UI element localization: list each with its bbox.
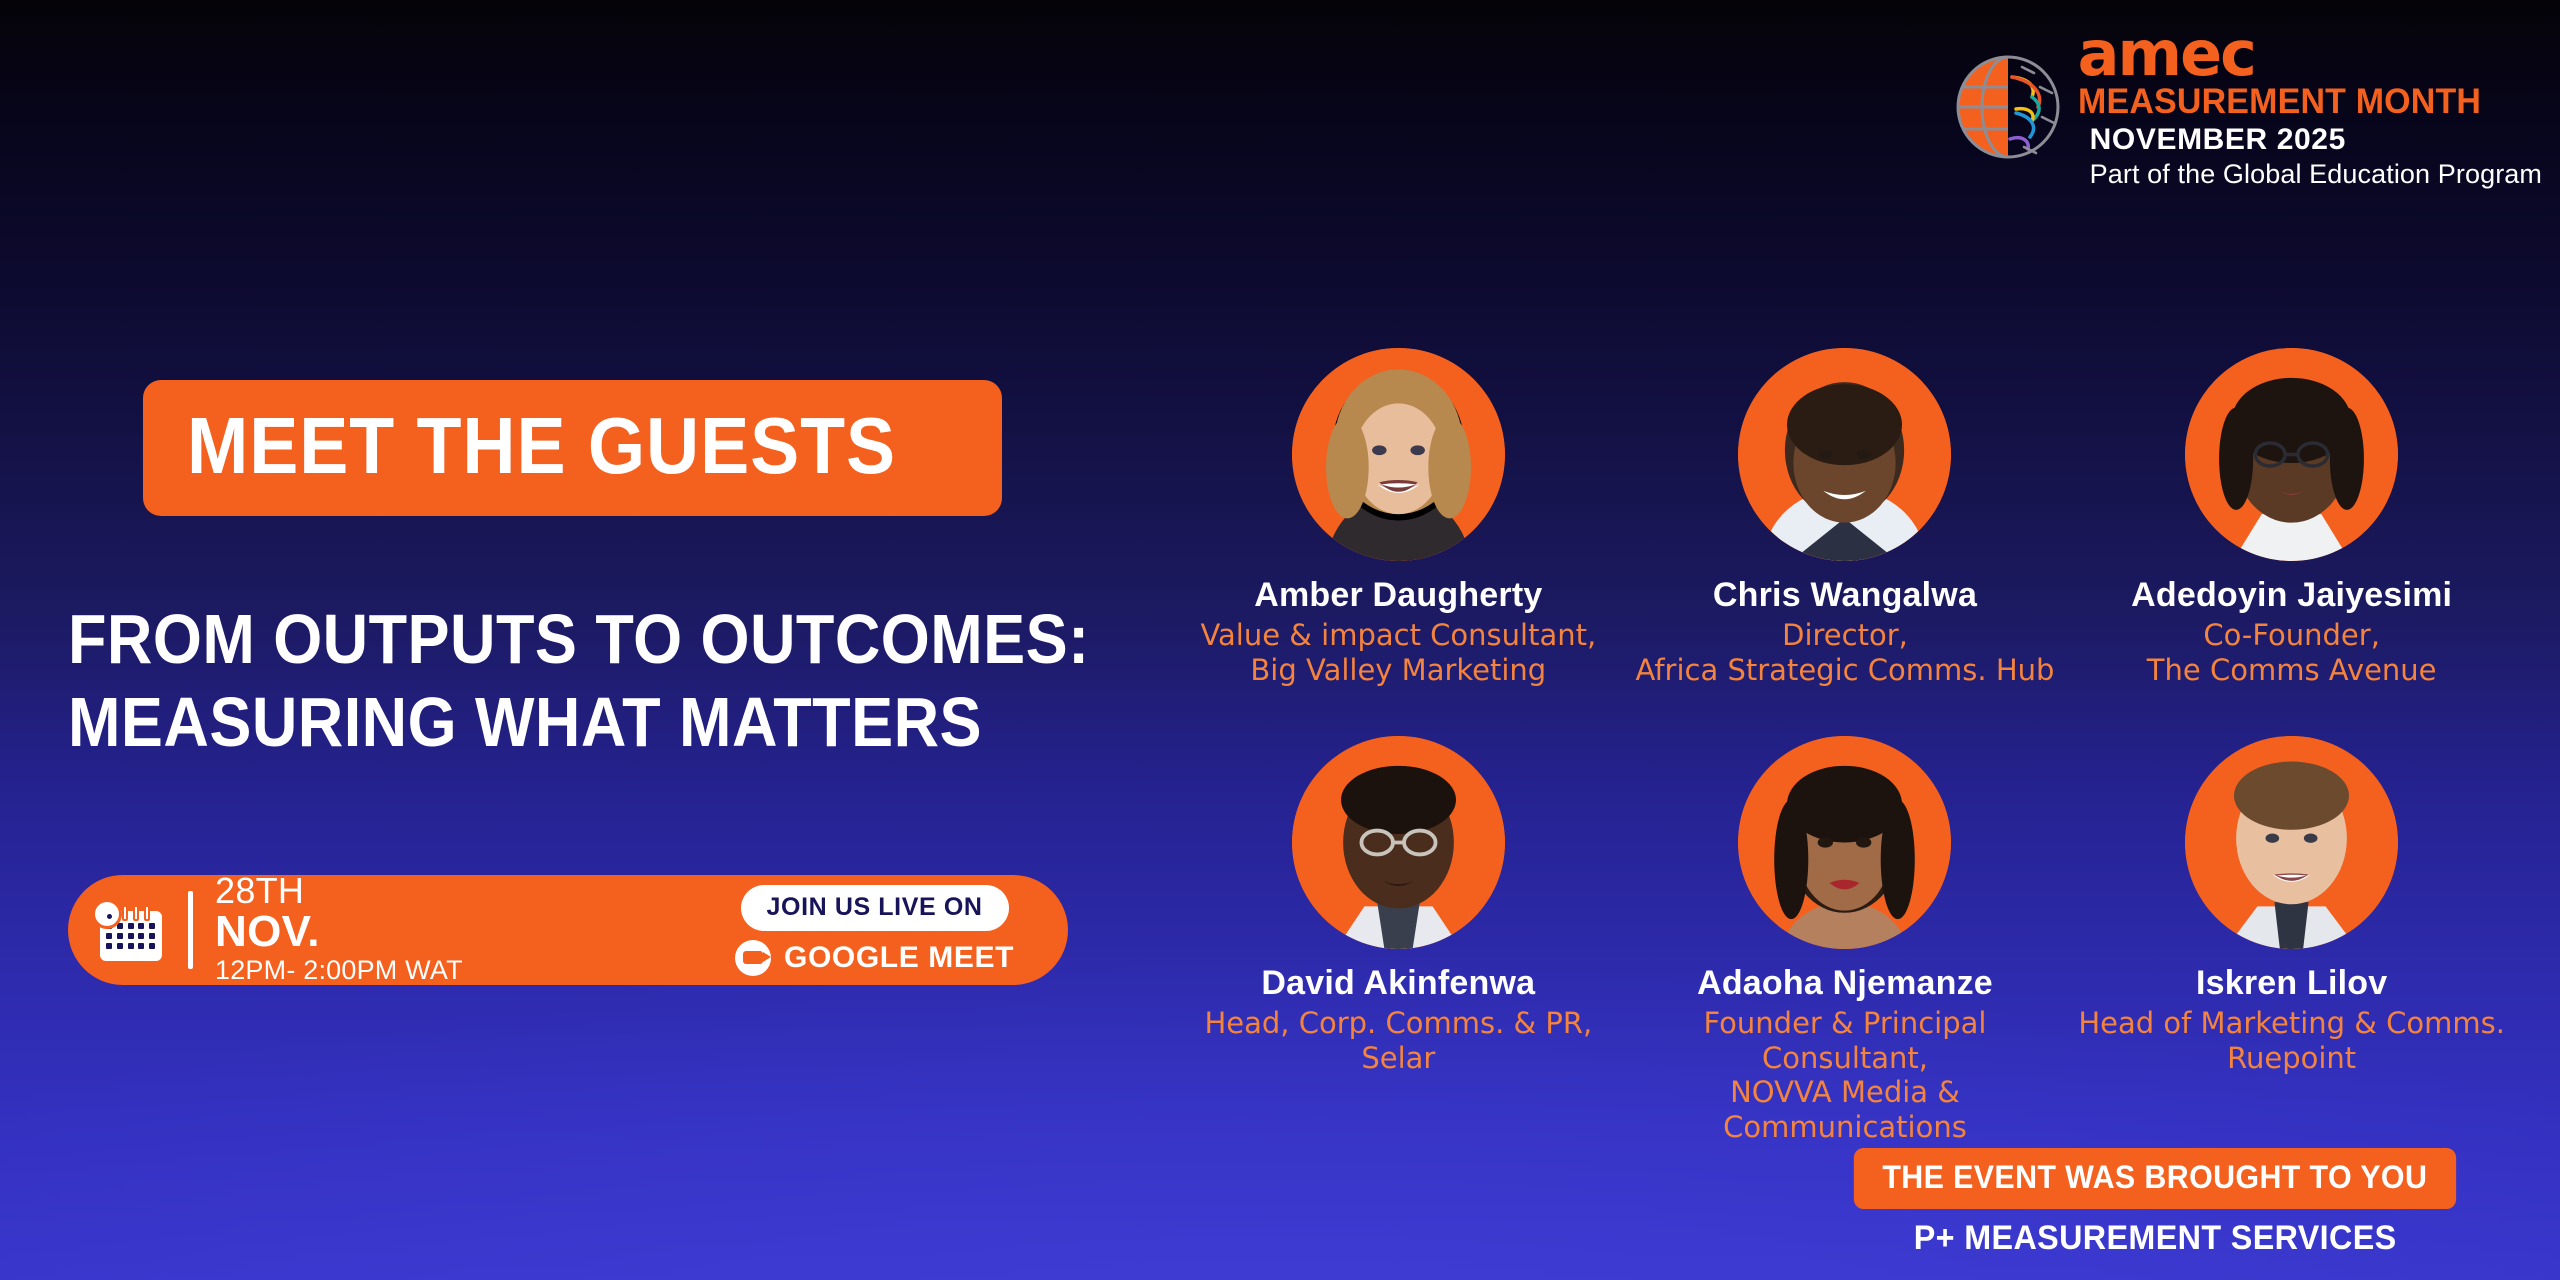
event-credit-badge: THE EVENT WAS BROUGHT TO YOU bbox=[1854, 1148, 2456, 1209]
event-poster: amec MEASUREMENT MONTH NOVEMBER 2025 Par… bbox=[0, 0, 2560, 1280]
speaker-role: Founder & Principal Consultant, NOVVA Me… bbox=[1622, 1006, 2069, 1145]
meet-the-guests-banner: MEET THE GUESTS bbox=[143, 380, 1002, 516]
globe-icon bbox=[1952, 51, 2064, 163]
speakers-grid: Amber Daugherty Value & impact Consultan… bbox=[1175, 348, 2515, 1145]
headline-line-1: FROM OUTPUTS TO OUTCOMES: bbox=[68, 598, 1090, 681]
event-month: NOV. bbox=[215, 910, 463, 955]
speaker-card: Amber Daugherty Value & impact Consultan… bbox=[1175, 348, 1622, 688]
page-title: FROM OUTPUTS TO OUTCOMES: MEASURING WHAT… bbox=[68, 598, 1090, 763]
event-date-block: 28TH NOV. 12PM- 2:00PM WAT bbox=[215, 872, 463, 988]
event-details-bar: 28TH NOV. 12PM- 2:00PM WAT JOIN US LIVE … bbox=[68, 875, 1068, 985]
avatar bbox=[2185, 348, 2398, 561]
calendar-icon-wrap bbox=[68, 899, 188, 961]
logo-month-year: NOVEMBER 2025 bbox=[2078, 121, 2542, 159]
logo-text-block: amec MEASUREMENT MONTH NOVEMBER 2025 Par… bbox=[2078, 22, 2542, 191]
speaker-name: Adedoyin Jaiyesimi bbox=[2131, 575, 2452, 615]
video-camera-icon bbox=[735, 940, 771, 976]
speaker-card: Chris Wangalwa Director, Africa Strategi… bbox=[1622, 348, 2069, 688]
speaker-name: Chris Wangalwa bbox=[1713, 575, 1977, 615]
amec-wordmark: amec bbox=[2078, 26, 2542, 82]
measurement-month-label: MEASUREMENT MONTH bbox=[2078, 82, 2528, 121]
speaker-name: Iskren Lilov bbox=[2196, 963, 2387, 1003]
sponsor-footer: THE EVENT WAS BROUGHT TO YOU P+ MEASUREM… bbox=[1838, 1148, 2472, 1258]
platform-label: GOOGLE MEET bbox=[784, 941, 1014, 975]
speaker-role: Head of Marketing & Comms. Ruepoint bbox=[2078, 1006, 2505, 1076]
vertical-divider bbox=[188, 891, 193, 969]
speaker-role: Director, Africa Strategic Comms. Hub bbox=[1636, 618, 2055, 688]
headline-line-2: MEASURING WHAT MATTERS bbox=[68, 681, 1090, 764]
speaker-card: Adaoha Njemanze Founder & Principal Cons… bbox=[1622, 736, 2069, 1145]
google-meet-row[interactable]: GOOGLE MEET bbox=[735, 940, 1014, 976]
speaker-name: Amber Daugherty bbox=[1254, 575, 1542, 615]
banner-label: MEET THE GUESTS bbox=[187, 406, 896, 486]
calendar-icon bbox=[92, 899, 164, 961]
speaker-name: Adaoha Njemanze bbox=[1697, 963, 1993, 1003]
speaker-card: Iskren Lilov Head of Marketing & Comms. … bbox=[2068, 736, 2515, 1145]
avatar bbox=[2185, 736, 2398, 949]
avatar bbox=[1738, 736, 1951, 949]
amec-logo: amec MEASUREMENT MONTH NOVEMBER 2025 Par… bbox=[1952, 22, 2542, 191]
logo-tagline: Part of the Global Education Program bbox=[2078, 158, 2542, 191]
speaker-card: David Akinfenwa Head, Corp. Comms. & PR,… bbox=[1175, 736, 1622, 1145]
join-us-live-label: JOIN US LIVE ON bbox=[741, 885, 1009, 931]
speaker-name: David Akinfenwa bbox=[1261, 963, 1535, 1003]
avatar bbox=[1292, 736, 1505, 949]
event-time: 12PM- 2:00PM WAT bbox=[215, 954, 463, 988]
sponsor-name: P+ MEASUREMENT SERVICES bbox=[1914, 1219, 2397, 1258]
speaker-role: Co-Founder, The Comms Avenue bbox=[2147, 618, 2437, 688]
event-day: 28TH bbox=[215, 872, 463, 910]
avatar bbox=[1738, 348, 1951, 561]
avatar bbox=[1292, 348, 1505, 561]
speaker-role: Value & impact Consultant, Big Valley Ma… bbox=[1200, 618, 1596, 688]
join-live-block[interactable]: JOIN US LIVE ON GOOGLE MEET bbox=[735, 885, 1014, 976]
speaker-role: Head, Corp. Comms. & PR, Selar bbox=[1204, 1006, 1592, 1076]
speaker-card: Adedoyin Jaiyesimi Co-Founder, The Comms… bbox=[2068, 348, 2515, 688]
left-column: MEET THE GUESTS FROM OUTPUTS TO OUTCOMES… bbox=[0, 0, 1100, 1280]
